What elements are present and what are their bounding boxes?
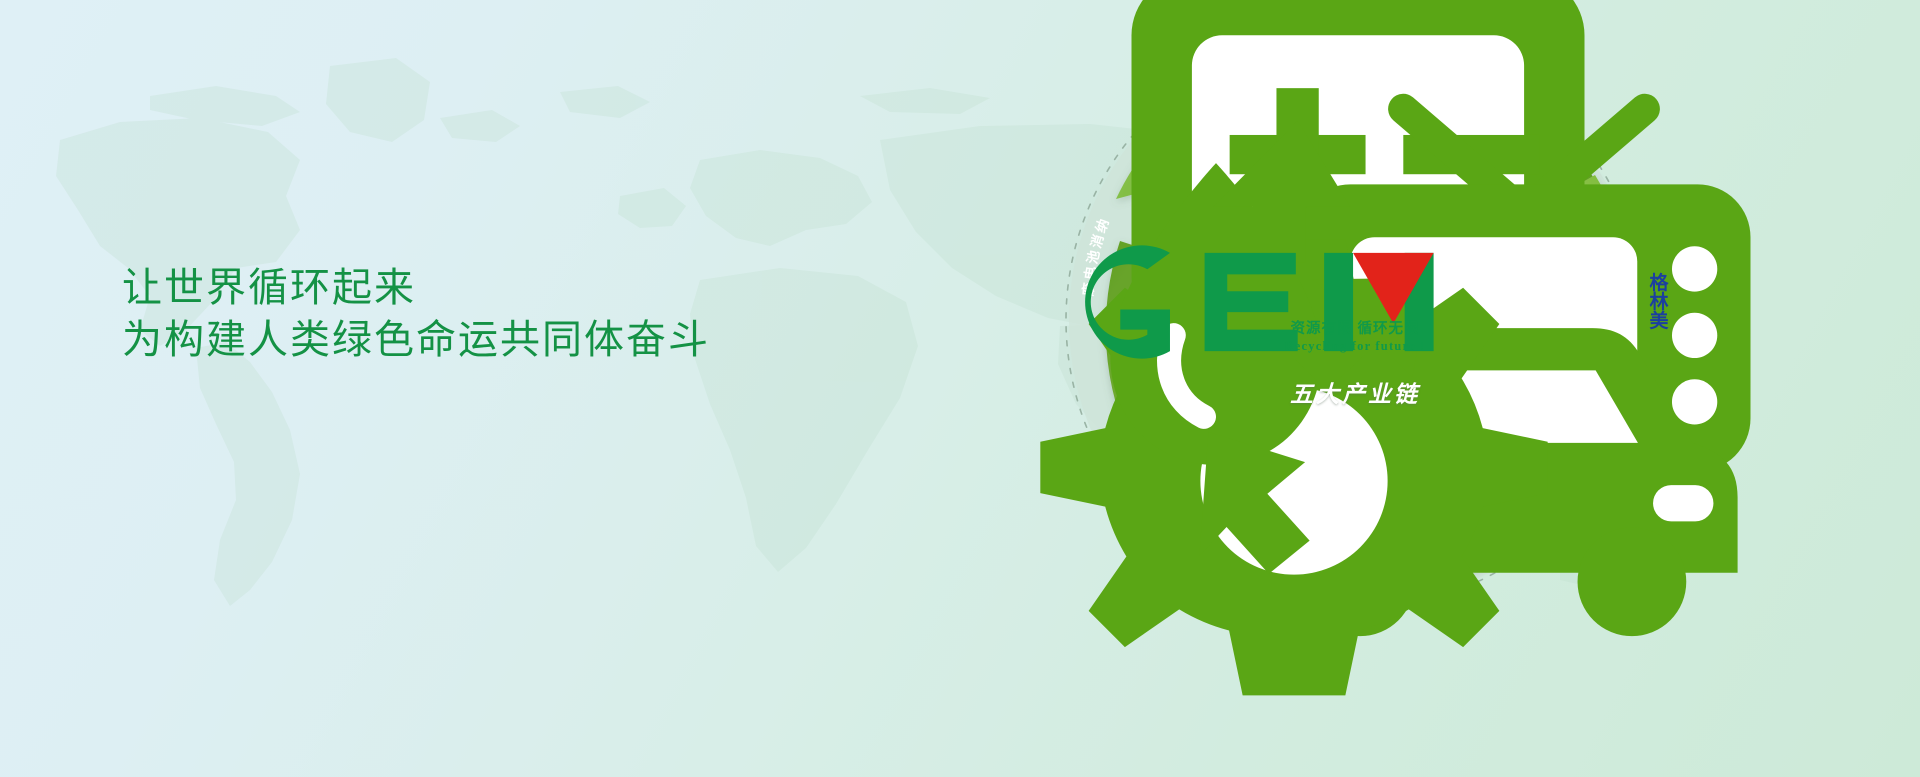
headline: 让世界循环起来 为构建人类绿色命运共同体奋斗: [122, 262, 710, 366]
gem-logo-cn: 格林美: [1650, 274, 1670, 331]
headline-line-1: 让世界循环起来: [122, 262, 710, 314]
headline-line-2: 为构建人类绿色命运共同体奋斗: [122, 314, 710, 366]
gem-wordmark-icon: [1041, 0, 1645, 604]
industry-chain-diagram: 废品回收 材料制造 金属材料 废电池消纳 再利用 废水、废渣、 废泥治理 产业链…: [1053, 18, 1657, 622]
center-brand-lockup: 格林美 资源有限 循环无限 Recycling for future ! 五大产…: [1235, 289, 1475, 409]
gem-logo: 格林美: [1235, 289, 1475, 315]
banner-stage: 让世界循环起来 为构建人类绿色命运共同体奋斗: [0, 0, 1920, 777]
